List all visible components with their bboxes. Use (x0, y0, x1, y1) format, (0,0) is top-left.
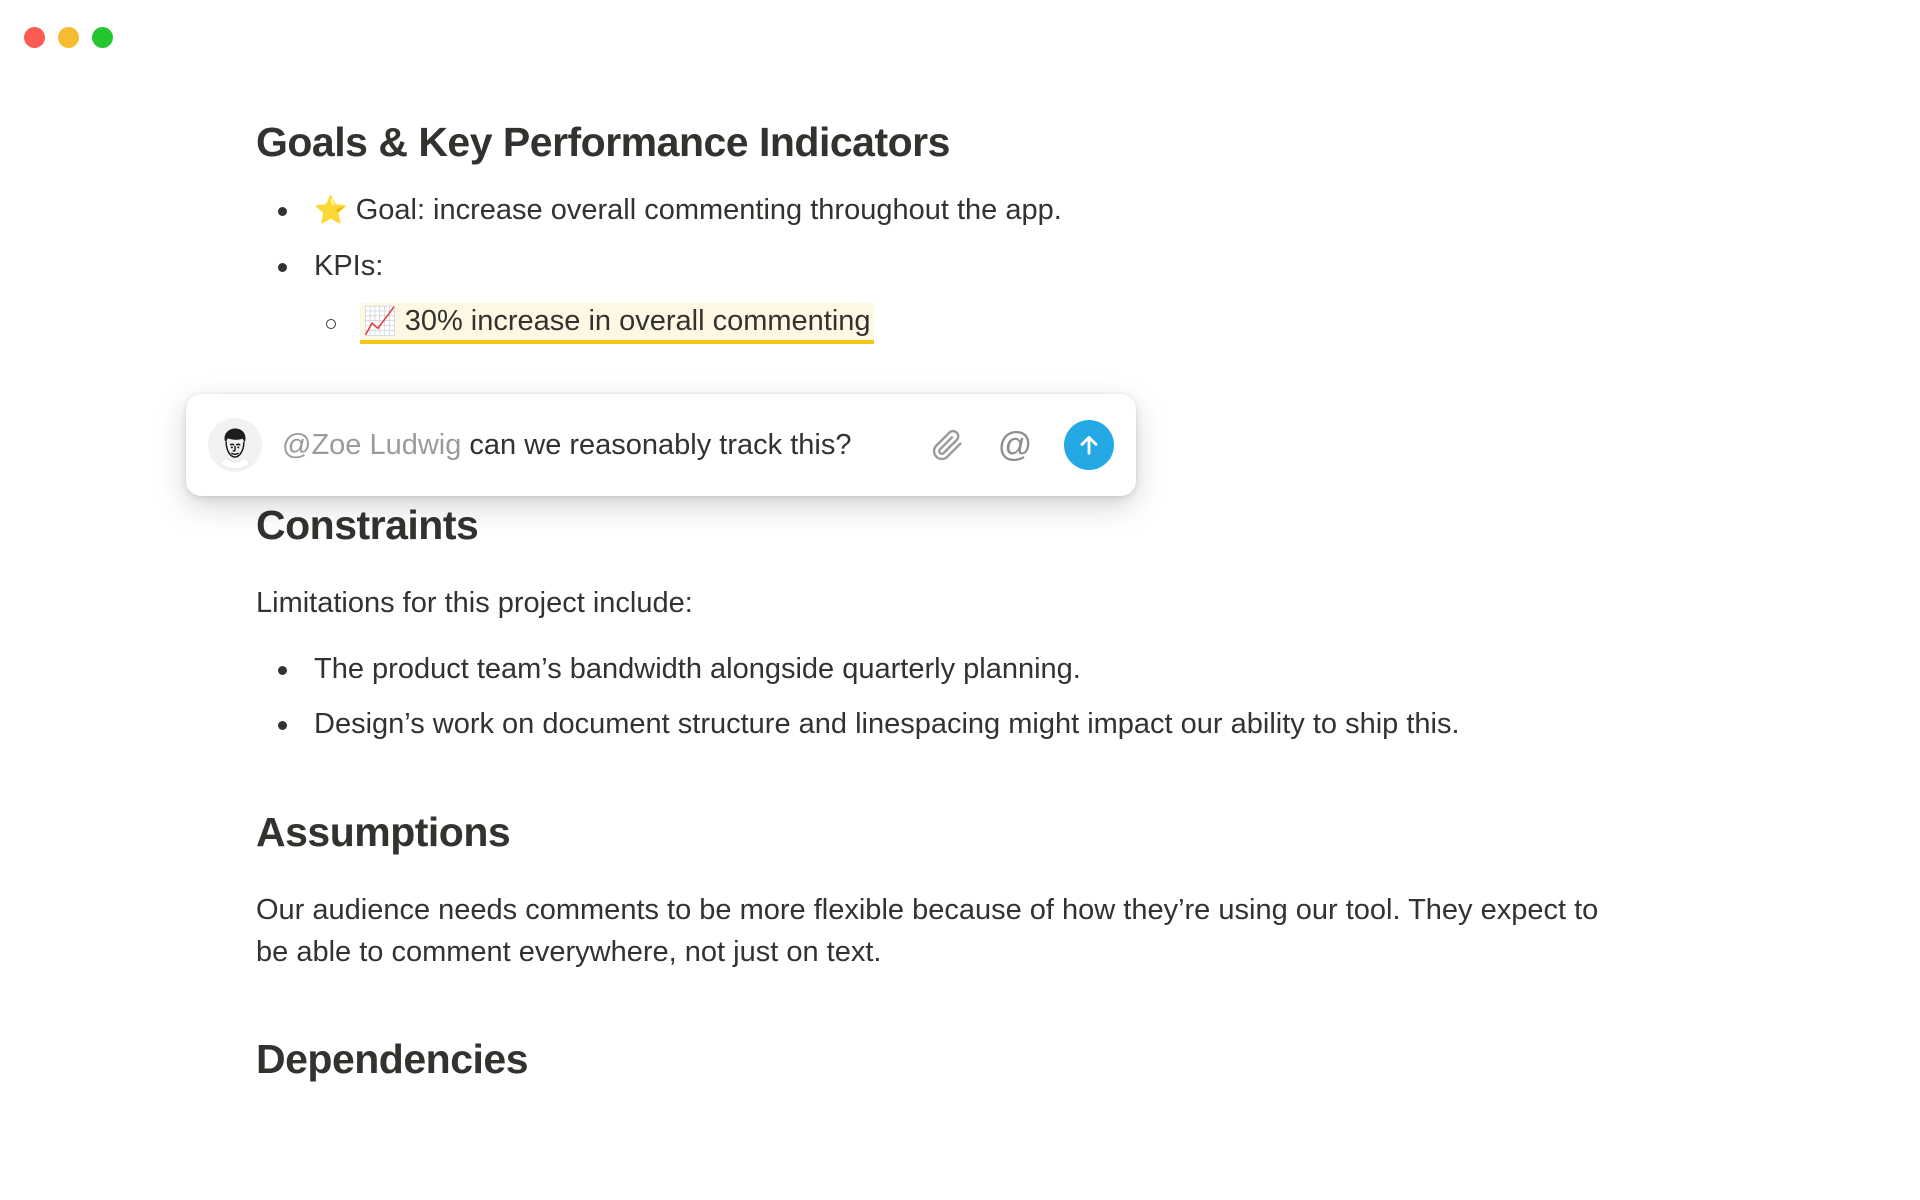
heading-goals: Goals & Key Performance Indicators (256, 118, 1656, 166)
goals-bullet-list: ⭐ Goal: increase overall commenting thro… (256, 190, 1656, 286)
list-item-label: Design’s work on document structure and … (314, 708, 1460, 740)
app-window: Goals & Key Performance Indicators ⭐ Goa… (0, 0, 1920, 1200)
list-item-label: Goal: increase overall commenting throug… (356, 194, 1062, 226)
submit-icon[interactable] (1064, 420, 1114, 470)
list-item[interactable]: The product team’s bandwidth alongside q… (256, 649, 1656, 690)
chart-increasing-emoji: 📈 (363, 303, 397, 341)
constraints-intro: Limitations for this project include: (256, 583, 1656, 625)
list-item[interactable]: ⭐ Goal: increase overall commenting thro… (256, 190, 1656, 231)
mention-glyph: @ (998, 428, 1033, 462)
comment-input[interactable]: @Zoe Ludwig can we reasonably track this… (282, 429, 910, 462)
comment-popup-actions: @ (928, 420, 1114, 470)
heading-dependencies: Dependencies (256, 1035, 1656, 1083)
list-item[interactable]: KPIs: (256, 246, 1656, 287)
list-item-label: KPIs: (314, 250, 383, 282)
assumptions-paragraph: Our audience needs comments to be more f… (256, 890, 1631, 974)
comment-composer-popup[interactable]: @Zoe Ludwig can we reasonably track this… (186, 394, 1136, 496)
list-item[interactable]: Design’s work on document structure and … (256, 704, 1656, 745)
star-emoji: ⭐ (314, 192, 348, 230)
attach-icon[interactable] (928, 426, 966, 464)
heading-assumptions: Assumptions (256, 808, 1656, 856)
mention-token: @Zoe Ludwig (282, 429, 461, 461)
list-item-label: The product team’s bandwidth alongside q… (314, 653, 1081, 685)
list-item-kpi-commenting[interactable]: 📈 30% increase in overall commenting (302, 301, 1656, 342)
heading-constraints: Constraints (256, 501, 1656, 549)
mention-icon[interactable]: @ (996, 426, 1034, 464)
comment-anchor-highlight[interactable]: 📈 30% increase in overall commenting (360, 303, 874, 344)
comment-body-text: can we reasonably track this? (461, 429, 851, 461)
constraints-bullet-list: The product team’s bandwidth alongside q… (256, 649, 1656, 745)
list-item-label: 30% increase in overall commenting (405, 305, 871, 337)
document-canvas: Goals & Key Performance Indicators ⭐ Goa… (0, 0, 1920, 1200)
user-avatar (208, 418, 262, 472)
